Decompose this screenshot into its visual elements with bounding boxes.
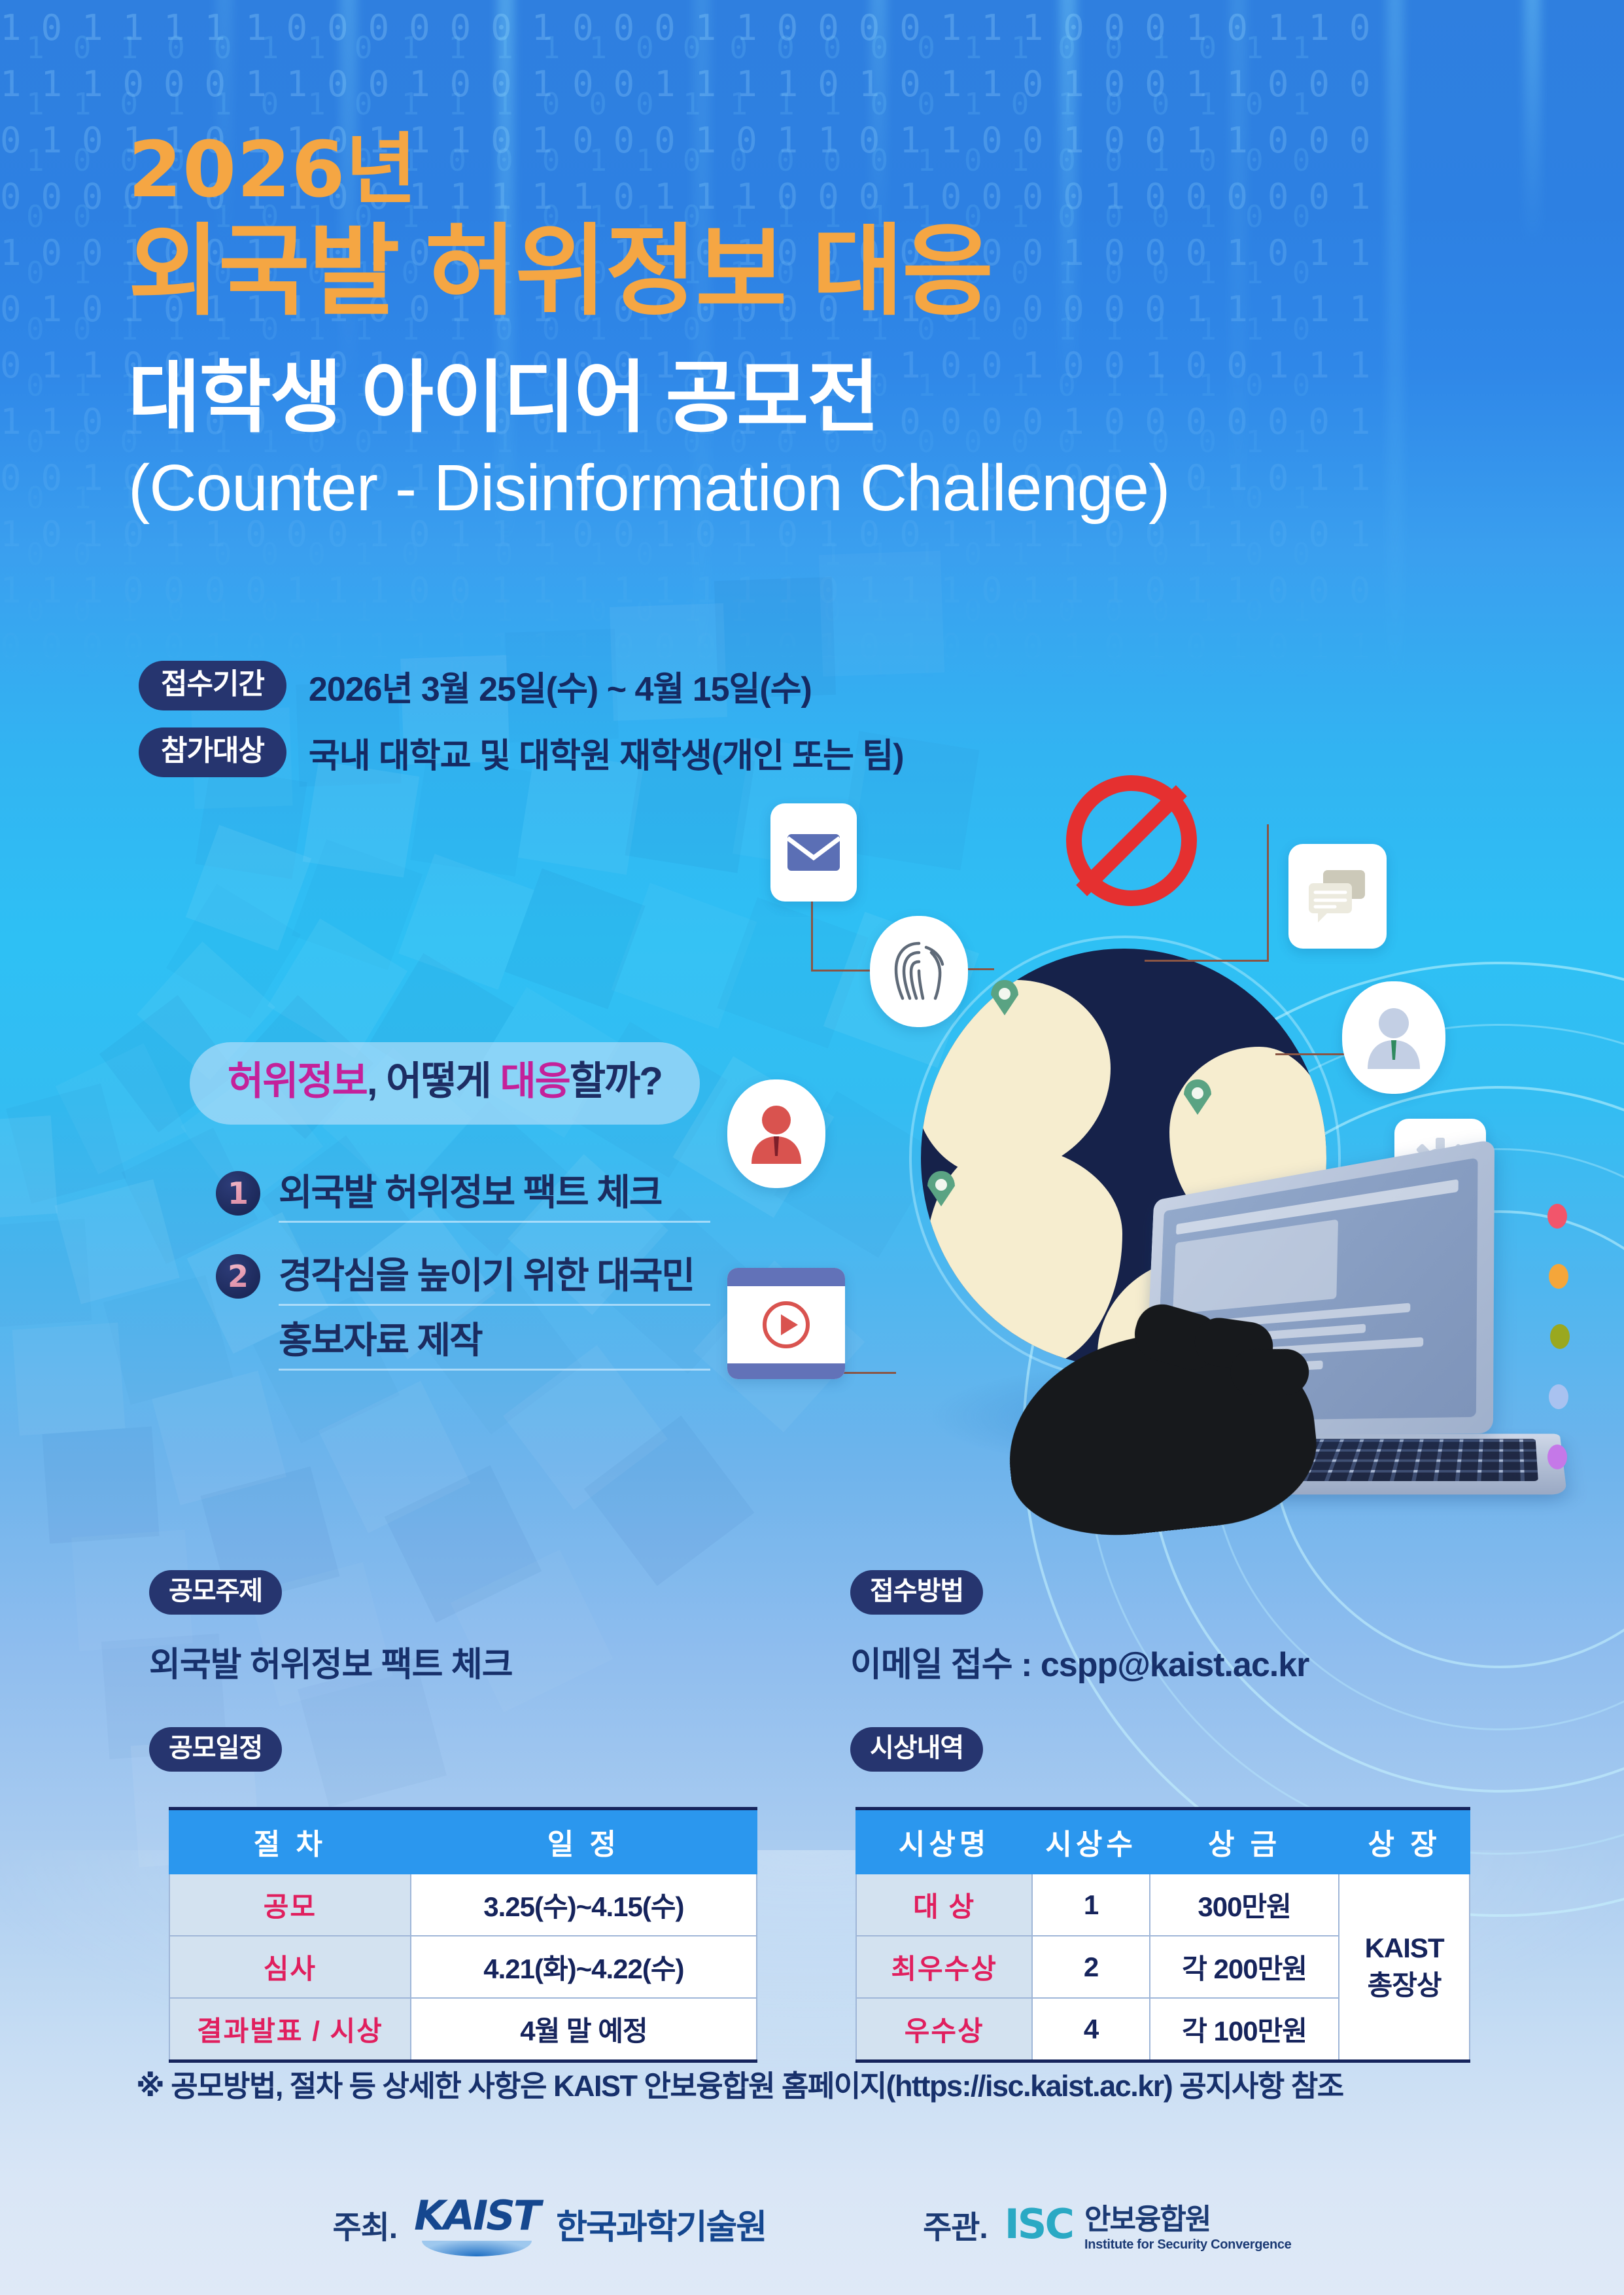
- organizer-name: 안보융합원: [1084, 2196, 1292, 2237]
- color-dot: [1549, 1264, 1568, 1289]
- list-item-text-1: 외국발 허위정보 팩트 체크: [279, 1168, 710, 1223]
- cell-award-name: 대 상: [856, 1874, 1032, 1936]
- checker-tile: [504, 869, 645, 1009]
- color-dots: [1547, 1204, 1570, 1505]
- connector-line: [1145, 824, 1269, 962]
- number-badge-1-text: 1: [228, 1176, 249, 1211]
- value-period: 2026년 3월 25일(수) ~ 4월 15일(수): [309, 661, 812, 710]
- organizer-block: 주관. ISC 안보융합원 Institute for Security Con…: [923, 2196, 1291, 2252]
- chat-glyph: [1305, 866, 1370, 926]
- table-header-row: 절 차 일 정: [169, 1809, 757, 1874]
- checker-tile: [103, 1275, 233, 1405]
- fingerprint-icon: [870, 916, 968, 1027]
- list-line: 경각심을 높이기 위한 대국민: [279, 1252, 710, 1306]
- color-dot: [1549, 1384, 1568, 1409]
- cell-award-name: 최우수상: [856, 1936, 1032, 1998]
- label-pill-awards: 시상내역: [850, 1727, 983, 1772]
- light-streak: [1524, 0, 1541, 249]
- cell-step: 공모: [169, 1874, 411, 1936]
- table-row: 결과발표 / 시상 4월 말 예정: [169, 1998, 757, 2061]
- approach-list: 1 외국발 허위정보 팩트 체크 2 경각심을 높이기 위한 대국민 홍보자료 …: [216, 1168, 687, 1399]
- cell-award-prize: 각 200만원: [1150, 1936, 1339, 1998]
- color-dot: [1547, 1445, 1567, 1469]
- question-part-3: 대응: [500, 1059, 569, 1103]
- checker-tile: [0, 1219, 92, 1328]
- awards-col-prize: 상 금: [1150, 1809, 1339, 1874]
- awards-table: 시상명 시상수 상 금 상 장 대 상 1 300만원 KAIST총장상 최우수…: [855, 1807, 1470, 2063]
- cell-award-prize: 300만원: [1150, 1874, 1339, 1936]
- person-blue-icon: [1342, 981, 1445, 1094]
- cell-step: 결과발표 / 시상: [169, 1998, 411, 2061]
- awards-table-head: 시상명 시상수 상 금 상 장: [856, 1809, 1470, 1874]
- screen-block: [1173, 1219, 1338, 1314]
- checker-tile: [166, 884, 301, 1019]
- label-pill-period: 접수기간: [139, 661, 286, 710]
- poster-canvas: 1011111000000100011000011100010110 11100…: [0, 0, 1624, 2295]
- person-red-icon: [727, 1079, 825, 1188]
- table-header-row: 시상명 시상수 상 금 상 장: [856, 1809, 1470, 1874]
- awards-col-certificate: 상 장: [1339, 1809, 1470, 1874]
- footnote: ※ 공모방법, 절차 등 상세한 사항은 KAIST 안보융합원 홈페이지(ht…: [136, 2062, 1510, 2105]
- checker-tile: [12, 1323, 126, 1436]
- mail-glyph: [786, 832, 841, 873]
- schedule-table-head: 절 차 일 정: [169, 1809, 757, 1874]
- mail-icon: [770, 803, 857, 902]
- map-pin-icon: [991, 980, 1018, 1015]
- map-pin-icon: [927, 1171, 955, 1206]
- title-main: 외국발 허위정보 대응: [128, 216, 1436, 327]
- table-row: 공모 3.25(수)~4.15(수): [169, 1874, 757, 1936]
- schedule-col-step: 절 차: [169, 1809, 411, 1874]
- list-item-text-2: 경각심을 높이기 위한 대국민 홍보자료 제작: [279, 1252, 710, 1371]
- play-glyph: [761, 1299, 812, 1350]
- host-block: 주최. KAIST 한국과학기술원: [332, 2192, 766, 2256]
- schedule-col-date: 일 정: [411, 1809, 757, 1874]
- question-part-2: , 어떻게: [367, 1059, 500, 1103]
- person-blue-glyph: [1361, 1004, 1426, 1072]
- title-english: (Counter - Disinformation Challenge): [128, 449, 1436, 527]
- number-badge-2: 2: [216, 1254, 260, 1299]
- checker-tile: [186, 825, 311, 951]
- label-pill-topic: 공모주제: [149, 1570, 282, 1615]
- checker-tile: [56, 1043, 187, 1174]
- awards-table-body: 대 상 1 300만원 KAIST총장상 최우수상 2 각 200만원 우수상 …: [856, 1874, 1470, 2061]
- footer-logos: 주최. KAIST 한국과학기술원 주관. ISC 안보융합원 Institut…: [0, 2192, 1624, 2256]
- cell-step: 심사: [169, 1936, 411, 1998]
- section-topic: 공모주제 외국발 허위정보 팩트 체크: [149, 1570, 513, 1686]
- schedule-table: 절 차 일 정 공모 3.25(수)~4.15(수) 심사 4.21(화)~4.…: [169, 1807, 757, 2063]
- isc-wordmark: ISC: [1005, 2200, 1073, 2248]
- topic-body: 외국발 허위정보 팩트 체크: [149, 1637, 513, 1686]
- question-banner: 허위정보, 어떻게 대응할까?: [190, 1042, 700, 1125]
- cell-date: 4.21(화)~4.22(수): [411, 1936, 757, 1998]
- video-window-footer: [727, 1363, 845, 1379]
- checker-tile: [6, 1083, 126, 1204]
- checker-tile: [819, 551, 944, 676]
- color-dot: [1547, 1204, 1567, 1229]
- checker-tile: [292, 839, 423, 970]
- cell-award-prize: 각 100만원: [1150, 1998, 1339, 2061]
- label-pill-submit: 접수방법: [850, 1570, 983, 1615]
- list-line: 홍보자료 제작: [279, 1316, 710, 1371]
- host-name: 한국과학기술원: [556, 2199, 766, 2249]
- list-item: 1 외국발 허위정보 팩트 체크: [216, 1168, 687, 1223]
- section-schedule: 공모일정: [149, 1727, 282, 1772]
- checker-tile: [0, 1115, 58, 1220]
- awards-col-count: 시상수: [1032, 1809, 1150, 1874]
- checker-tile: [42, 1426, 159, 1543]
- cell-date: 3.25(수)~4.15(수): [411, 1874, 757, 1936]
- number-badge-2-text: 2: [228, 1259, 249, 1294]
- table-row: 대 상 1 300만원 KAIST총장상: [856, 1874, 1470, 1936]
- cell-certificate: KAIST총장상: [1339, 1874, 1470, 2061]
- organizer-role-label: 주관.: [923, 2201, 988, 2247]
- cell-award-count: 1: [1032, 1874, 1150, 1936]
- schedule-table-body: 공모 3.25(수)~4.15(수) 심사 4.21(화)~4.22(수) 결과…: [169, 1874, 757, 2061]
- question-part-4: 할까?: [570, 1059, 662, 1103]
- year-label: 2026년: [128, 131, 1436, 208]
- checker-tile: [319, 1381, 471, 1533]
- list-item: 2 경각심을 높이기 위한 대국민 홍보자료 제작: [216, 1252, 687, 1371]
- cell-date: 4월 말 예정: [411, 1998, 757, 2061]
- video-play-icon: [727, 1268, 845, 1379]
- laptop-icon: [1079, 1171, 1576, 1511]
- label-pill-target: 참가대상: [139, 727, 286, 777]
- kaist-wordmark: KAIST: [414, 2192, 539, 2239]
- checker-tile: [398, 854, 534, 990]
- central-illustration: [713, 752, 1583, 1524]
- info-row-period: 접수기간 2026년 3월 25일(수) ~ 4월 15일(수): [139, 661, 904, 710]
- fingerprint-glyph: [891, 938, 947, 1005]
- color-dot: [1550, 1324, 1570, 1349]
- kaist-swoosh-icon: [422, 2241, 532, 2256]
- label-pill-schedule: 공모일정: [149, 1727, 282, 1772]
- section-submit: 접수방법 이메일 접수 : cspp@kaist.ac.kr: [850, 1570, 1309, 1686]
- finger: [1230, 1349, 1309, 1395]
- poster-header: 2026년 외국발 허위정보 대응 대학생 아이디어 공모전 (Counter …: [128, 131, 1436, 527]
- map-pin-icon: [1184, 1079, 1211, 1115]
- list-line: 외국발 허위정보 팩트 체크: [279, 1168, 710, 1223]
- video-window-body: [727, 1286, 845, 1363]
- number-badge-1: 1: [216, 1171, 260, 1216]
- title-sub: 대학생 아이디어 공모전: [128, 351, 1436, 445]
- checker-tile: [54, 1180, 179, 1305]
- certificate-text: KAIST총장상: [1365, 1933, 1444, 2001]
- cell-award-name: 우수상: [856, 1998, 1032, 2061]
- kaist-logo: KAIST: [414, 2192, 539, 2256]
- awards-col-name: 시상명: [856, 1809, 1032, 1874]
- video-window-bar: [727, 1268, 845, 1286]
- submit-body: 이메일 접수 : cspp@kaist.ac.kr: [850, 1637, 1309, 1686]
- section-awards: 시상내역: [850, 1727, 983, 1772]
- host-role-label: 주최.: [332, 2201, 397, 2247]
- organizer-name-en: Institute for Security Convergence: [1084, 2237, 1292, 2252]
- table-row: 심사 4.21(화)~4.22(수): [169, 1936, 757, 1998]
- checker-tile: [268, 919, 407, 1059]
- cell-award-count: 2: [1032, 1936, 1150, 1998]
- chat-icon: [1288, 844, 1387, 949]
- cell-award-count: 4: [1032, 1998, 1150, 2061]
- isc-logo: ISC 안보융합원 Institute for Security Converg…: [1005, 2196, 1292, 2252]
- isc-sub-block: 안보융합원 Institute for Security Convergence: [1084, 2196, 1292, 2252]
- question-part-1: 허위정보: [228, 1059, 367, 1103]
- person-red-glyph: [745, 1101, 808, 1166]
